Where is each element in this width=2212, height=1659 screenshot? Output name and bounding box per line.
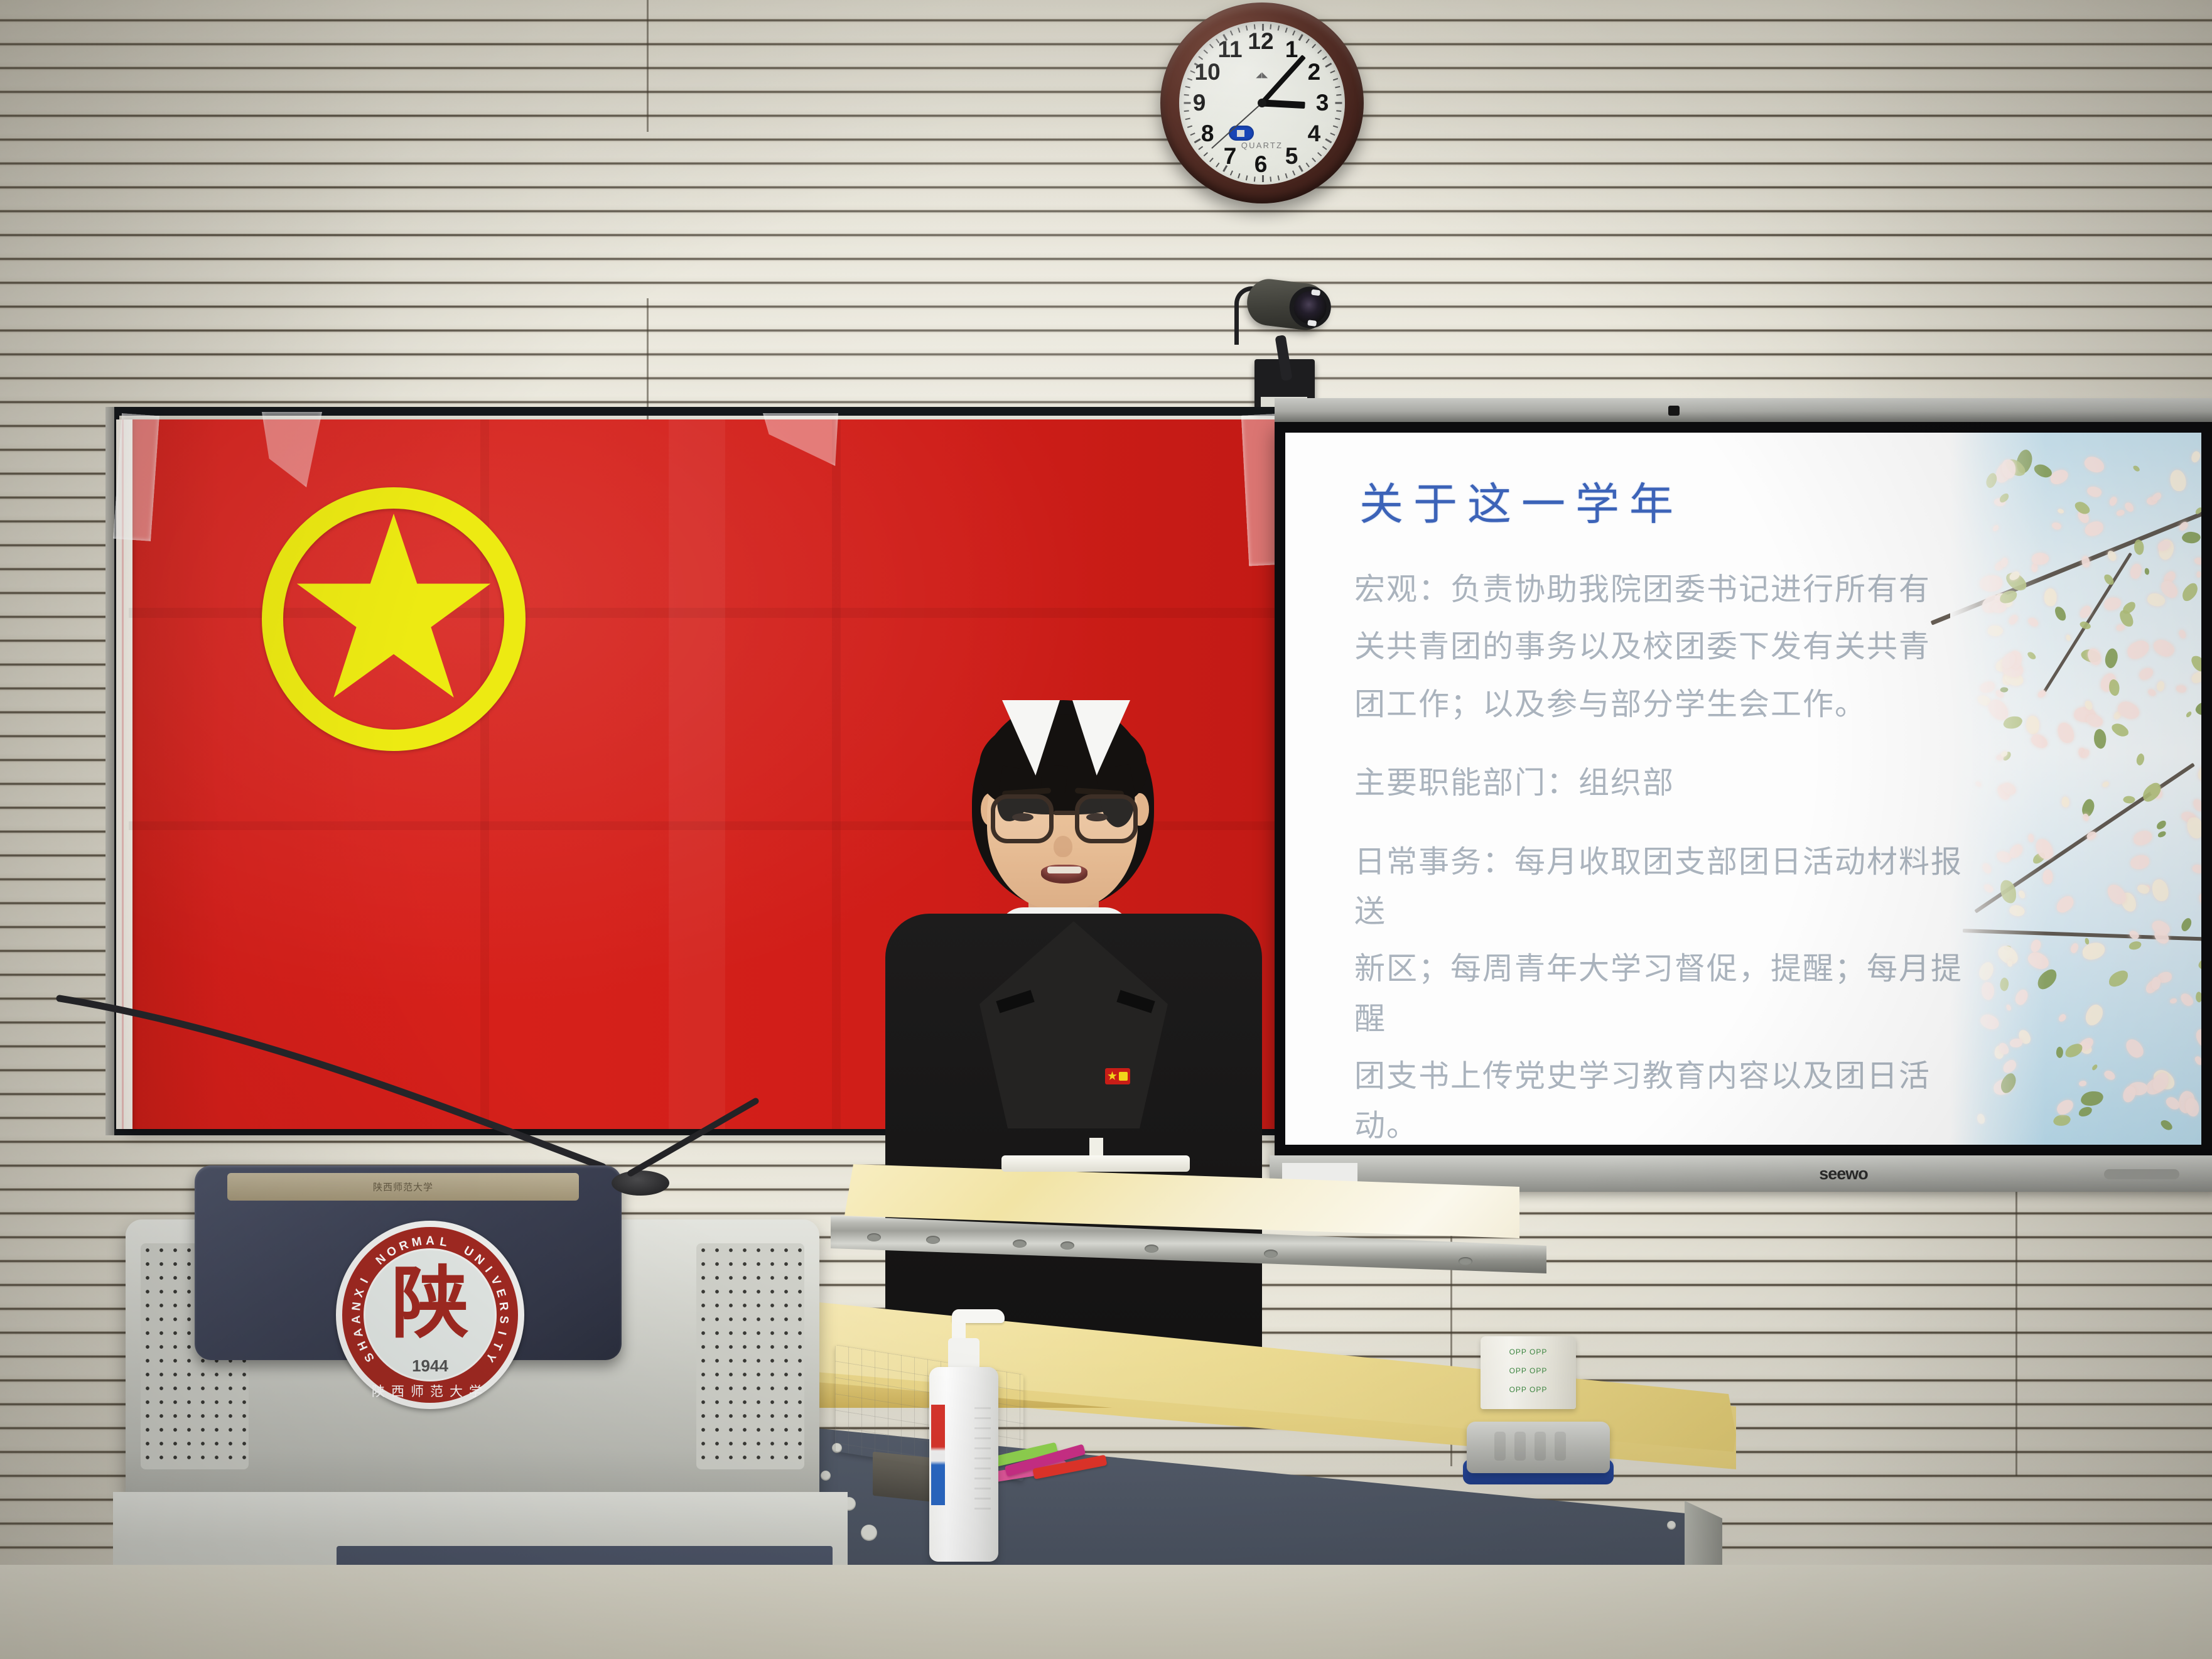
clock-hour-tick — [1184, 102, 1191, 104]
clock-minute-tick — [1204, 50, 1208, 54]
slide-body-line: 日常事务：每月收取团支部团日活动材料报送 — [1354, 837, 1988, 937]
clock-minute-tick — [1238, 173, 1240, 178]
pin-bar-icon — [1119, 1072, 1128, 1081]
eraser-grip-rib — [1494, 1432, 1506, 1461]
clock-hour-tick — [1325, 138, 1332, 143]
rail-hole — [867, 1233, 881, 1241]
lectern-speaker-grill-right — [696, 1243, 804, 1469]
clock-minute-tick — [1336, 94, 1341, 96]
rail-hole — [1264, 1250, 1278, 1258]
clock-minute-tick — [1335, 118, 1340, 121]
rail-hole — [1459, 1257, 1472, 1265]
clock-minute-tick — [1246, 175, 1248, 180]
clock-minute-tick — [1322, 56, 1327, 60]
lectern-lid[interactable]: 陕西师范大学 SHAANXI NORMAL UNIVERSITY 陕西师范大学 … — [195, 1165, 622, 1360]
clock-minute-tick — [1278, 26, 1280, 31]
clock-minute-tick — [1184, 110, 1189, 112]
microphone-base[interactable] — [612, 1170, 669, 1196]
seal-chinese-text: 陕西师范大学 — [372, 1381, 488, 1400]
display-power-button[interactable] — [2104, 1169, 2179, 1179]
clock-brand-mark: ◢◣ — [1256, 70, 1268, 79]
clock-minute-tick — [1306, 163, 1310, 168]
camera-ir-led — [1311, 289, 1320, 296]
adhesive-tape-patch — [262, 412, 322, 487]
lapel-left — [979, 921, 1074, 1128]
clock-minute-tick — [1204, 152, 1208, 156]
classroom-scene: ◢◣ QUARTZ 121234567891011 — [0, 0, 2212, 1659]
clock-minute-tick — [1230, 170, 1233, 175]
lens-left — [991, 794, 1054, 843]
clock-hour-tick — [1194, 138, 1201, 143]
sanitizer-body — [929, 1367, 998, 1562]
clock-minute-tick — [1190, 132, 1195, 136]
clock-minute-tick — [1292, 30, 1295, 35]
clock-minute-tick — [1292, 170, 1295, 175]
clock-numeral: 5 — [1285, 143, 1298, 170]
clock-minute-tick — [1330, 70, 1335, 73]
clock-numeral: 2 — [1308, 59, 1321, 85]
tape-brand-text: OPP OPP — [1481, 1385, 1576, 1394]
slide-title: 关于这一学年 — [1359, 469, 1683, 532]
clock-minute-tick — [1322, 146, 1327, 150]
rail-hole — [1013, 1240, 1027, 1248]
seal-arc-letter: A — [350, 1315, 364, 1324]
desk-screw — [1667, 1521, 1676, 1530]
whiteboard-eraser[interactable] — [1463, 1419, 1614, 1493]
seal-arc-letter: I — [482, 1264, 495, 1275]
clock-minute-tick — [1333, 126, 1338, 128]
slide-body-line: 关共青团的事务以及校团委下发有关共青 — [1354, 622, 1988, 671]
seal-arc-letter: T — [489, 1339, 505, 1352]
mouth — [1041, 865, 1087, 884]
clock-minute-tick — [1238, 28, 1240, 33]
tape-brand-text: OPP OPP — [1481, 1366, 1576, 1375]
clock-center-pin — [1258, 99, 1266, 107]
clock-minute-hand — [1260, 55, 1306, 105]
clock-minute-tick — [1278, 175, 1280, 180]
keyboard-tray[interactable] — [844, 1155, 1548, 1312]
clock-minute-tick — [1317, 50, 1322, 54]
lens-right — [1075, 794, 1138, 843]
clock-minute-tick — [1333, 78, 1338, 80]
flag-highlight — [669, 419, 725, 1129]
clock-minute-tick — [1184, 94, 1189, 96]
lectern-nameplate: 陕西师范大学 — [227, 1173, 579, 1201]
slide-body-line: 主要职能部门：组织部 — [1354, 758, 1988, 808]
teeth — [1047, 867, 1081, 873]
clock-minute-tick — [1285, 173, 1288, 178]
seal-arc-letter: R — [495, 1301, 510, 1311]
seal-arc-letter: M — [411, 1235, 423, 1250]
tray-handle[interactable] — [1001, 1155, 1190, 1172]
clock-minute-tick — [1187, 78, 1192, 80]
slide-line-gap — [1354, 816, 1988, 837]
sanitizer-ribs — [974, 1407, 991, 1514]
nameplate-text: 陕西师范大学 — [373, 1181, 433, 1194]
clock-numeral: 7 — [1224, 143, 1237, 170]
seal-arc-letter: A — [426, 1235, 434, 1248]
clock-numeral: 10 — [1195, 59, 1221, 85]
desk-screw — [861, 1525, 877, 1541]
eraser-grip-rib — [1535, 1432, 1546, 1461]
seal-arc-letter: L — [438, 1235, 448, 1250]
clock-minute-tick — [1230, 30, 1233, 35]
seewo-brand-logo: seewo — [1819, 1164, 1868, 1184]
clock-minute-tick — [1336, 110, 1341, 112]
clock-numeral: 1 — [1285, 36, 1298, 63]
clock-hour-tick — [1325, 63, 1332, 68]
rail-hole — [1060, 1241, 1074, 1250]
slide-line-gap — [1354, 737, 1988, 758]
sanitizer-label — [931, 1405, 945, 1505]
hand-sanitizer-bottle[interactable] — [929, 1309, 998, 1560]
clock-minute-tick — [1312, 44, 1316, 48]
clock-minute-tick — [1317, 152, 1322, 156]
tape-roll[interactable]: OPP OPP OPP OPP OPP OPP — [1481, 1336, 1576, 1409]
display-top-bar — [1275, 398, 2212, 422]
tape-brand-text: OPP OPP — [1481, 1348, 1576, 1356]
display-camera-icon — [1668, 406, 1680, 416]
clock-minute-tick — [1185, 118, 1190, 121]
eraser-handle[interactable] — [1467, 1422, 1610, 1473]
clock-face: ◢◣ QUARTZ 121234567891011 — [1179, 21, 1345, 185]
slide-body-text: 宏观：负责协助我院团委书记进行所有有关共青团的事务以及校团委下发有关共青团工作；… — [1354, 565, 1988, 1145]
clock-minute-tick — [1285, 28, 1288, 33]
glasses-bridge — [1054, 811, 1076, 815]
wall-seam — [2015, 1162, 2017, 1476]
cctv-camera — [1229, 275, 1349, 412]
slide-body-line: 新区；每周青年大学习督促，提醒；每月提醒 — [1354, 944, 1988, 1044]
pen-cluster[interactable] — [985, 1447, 1116, 1504]
wall-clock: ◢◣ QUARTZ 121234567891011 — [1160, 3, 1364, 203]
camera-ir-led — [1307, 320, 1317, 327]
clock-numeral: 11 — [1217, 36, 1242, 63]
clock-numeral: 6 — [1254, 151, 1268, 178]
clock-minute-tick — [1270, 176, 1271, 181]
nose — [1054, 836, 1072, 857]
clock-numeral: 8 — [1201, 121, 1214, 147]
rail-hole — [926, 1236, 940, 1244]
adhesive-tape-patch — [113, 413, 159, 541]
flag-fold — [832, 419, 841, 1129]
slide-body-line: 宏观：负责协助我院团委书记进行所有有 — [1354, 565, 1988, 614]
clock-minute-tick — [1209, 44, 1214, 48]
clock-hour-tick — [1298, 34, 1303, 41]
wall-seam — [647, 0, 649, 132]
seal-arc-letter: I — [494, 1329, 509, 1336]
clock-minute-tick — [1185, 86, 1190, 89]
seal-arc-letter: I — [358, 1277, 372, 1286]
rail-hole — [1145, 1245, 1158, 1253]
lapel-right — [1074, 921, 1168, 1128]
seal-arc-letter: S — [496, 1316, 510, 1324]
eraser-grip-rib — [1555, 1432, 1566, 1461]
adhesive-tape-patch — [763, 413, 838, 466]
clock-hour-hand — [1262, 100, 1305, 109]
desk-screw — [821, 1471, 831, 1481]
seal-arc-letter: N — [350, 1301, 364, 1311]
clock-numeral: 12 — [1248, 28, 1273, 55]
party-emblem-lapel-pin — [1105, 1068, 1130, 1089]
slide-body-line: 团支书上传党史学习教育内容以及团日活动。 — [1354, 1051, 1988, 1145]
clock-minute-tick — [1330, 132, 1335, 136]
clock-minute-tick — [1216, 163, 1219, 168]
clock-minute-tick — [1209, 158, 1214, 162]
seewo-interactive-display[interactable]: 关于这一学年 宏观：负责协助我院团委书记进行所有有关共青团的事务以及校团委下发有… — [1275, 422, 2212, 1155]
clock-minute-tick — [1335, 86, 1340, 89]
seal-arc-letter: E — [492, 1287, 508, 1299]
slide-body-line: 团工作；以及参与部分学生会工作。 — [1354, 679, 1988, 729]
clock-minute-tick — [1187, 126, 1192, 128]
clock-numeral: 9 — [1193, 90, 1206, 116]
clock-hour-tick — [1298, 165, 1303, 172]
seal-character: 陕 — [391, 1265, 469, 1343]
clock-hour-tick — [1335, 102, 1342, 104]
clock-numeral: 4 — [1308, 121, 1321, 147]
clock-numeral: 3 — [1316, 90, 1329, 116]
seal-arc-letter: A — [351, 1327, 367, 1339]
university-seal-logo: SHAANXI NORMAL UNIVERSITY 陕西师范大学 陕 1944 — [336, 1221, 524, 1409]
seal-founding-year: 1944 — [412, 1356, 448, 1376]
eraser-grip-rib — [1514, 1432, 1526, 1461]
youth-league-emblem — [262, 487, 526, 751]
floor-strip — [0, 1565, 2212, 1659]
clock-minute-tick — [1312, 158, 1316, 162]
presentation-slide: 关于这一学年 宏观：负责协助我院团委书记进行所有有关共青团的事务以及校团委下发有… — [1285, 433, 2201, 1145]
clock-quartz-label: QUARTZ — [1241, 141, 1283, 150]
clock-minute-tick — [1306, 38, 1310, 43]
